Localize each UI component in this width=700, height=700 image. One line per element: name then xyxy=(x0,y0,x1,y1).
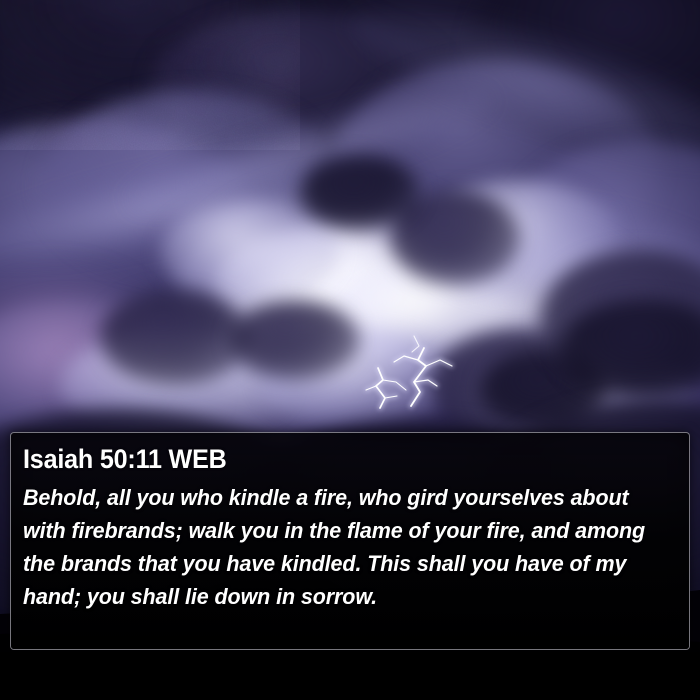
lightning-bolt-left xyxy=(366,368,406,408)
verse-body-text: Behold, all you who kindle a fire, who g… xyxy=(23,481,674,613)
caption-content: Isaiah 50:11 WEB Behold, all you who kin… xyxy=(11,433,689,613)
verse-caption-panel: Isaiah 50:11 WEB Behold, all you who kin… xyxy=(10,432,690,650)
lightning-bolt-right xyxy=(394,348,452,406)
lightning-bolt-faint-upper xyxy=(412,336,419,352)
verse-reference: Isaiah 50:11 WEB xyxy=(23,443,629,475)
bottom-black-band xyxy=(0,652,700,700)
verse-image-scene: Isaiah 50:11 WEB Behold, all you who kin… xyxy=(0,0,700,700)
